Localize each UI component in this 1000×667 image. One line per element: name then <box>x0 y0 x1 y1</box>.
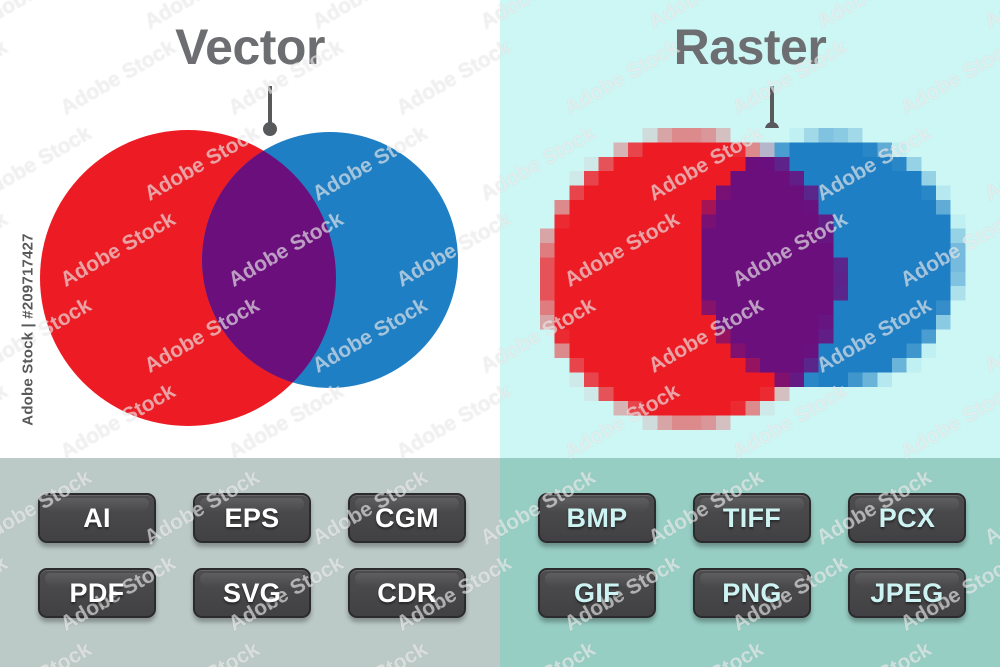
button-row: GIF PNG JPEG <box>538 568 966 618</box>
vector-title: Vector <box>0 22 500 72</box>
vector-venn-diagram <box>40 130 480 430</box>
format-button-png[interactable]: PNG <box>693 568 811 618</box>
vector-format-buttons: AI EPS CGM PDF SVG CDR <box>38 493 466 618</box>
button-row: AI EPS CGM <box>38 493 466 543</box>
format-button-bmp[interactable]: BMP <box>538 493 656 543</box>
button-row: PDF SVG CDR <box>38 568 466 618</box>
format-label: CGM <box>375 505 439 532</box>
format-button-gif[interactable]: GIF <box>538 568 656 618</box>
illustration-canvas: Vector Raster AI E <box>0 0 1000 667</box>
format-label: AI <box>83 505 111 532</box>
raster-title: Raster <box>500 22 1000 72</box>
pixelated-venn-canvas <box>540 128 980 430</box>
format-label: PDF <box>70 580 125 607</box>
raster-format-buttons: BMP TIFF PCX GIF PNG JPEG <box>538 493 966 618</box>
format-button-tiff[interactable]: TIFF <box>693 493 811 543</box>
format-label: CDR <box>377 580 436 607</box>
format-label: JPEG <box>870 580 943 607</box>
stock-id-watermark: Adobe Stock | #209717427 <box>20 210 37 450</box>
format-label: SVG <box>223 580 281 607</box>
format-label: PNG <box>722 580 781 607</box>
raster-venn-diagram <box>540 128 980 430</box>
format-button-cgm[interactable]: CGM <box>348 493 466 543</box>
format-label: BMP <box>567 505 628 532</box>
format-button-ai[interactable]: AI <box>38 493 156 543</box>
format-button-pdf[interactable]: PDF <box>38 568 156 618</box>
format-button-pcx[interactable]: PCX <box>848 493 966 543</box>
format-label: TIFF <box>723 505 781 532</box>
button-row: BMP TIFF PCX <box>538 493 966 543</box>
format-label: PCX <box>879 505 935 532</box>
format-button-svg[interactable]: SVG <box>193 568 311 618</box>
format-label: GIF <box>574 580 620 607</box>
format-button-cdr[interactable]: CDR <box>348 568 466 618</box>
format-button-eps[interactable]: EPS <box>193 493 311 543</box>
format-label: EPS <box>225 505 280 532</box>
format-button-jpeg[interactable]: JPEG <box>848 568 966 618</box>
